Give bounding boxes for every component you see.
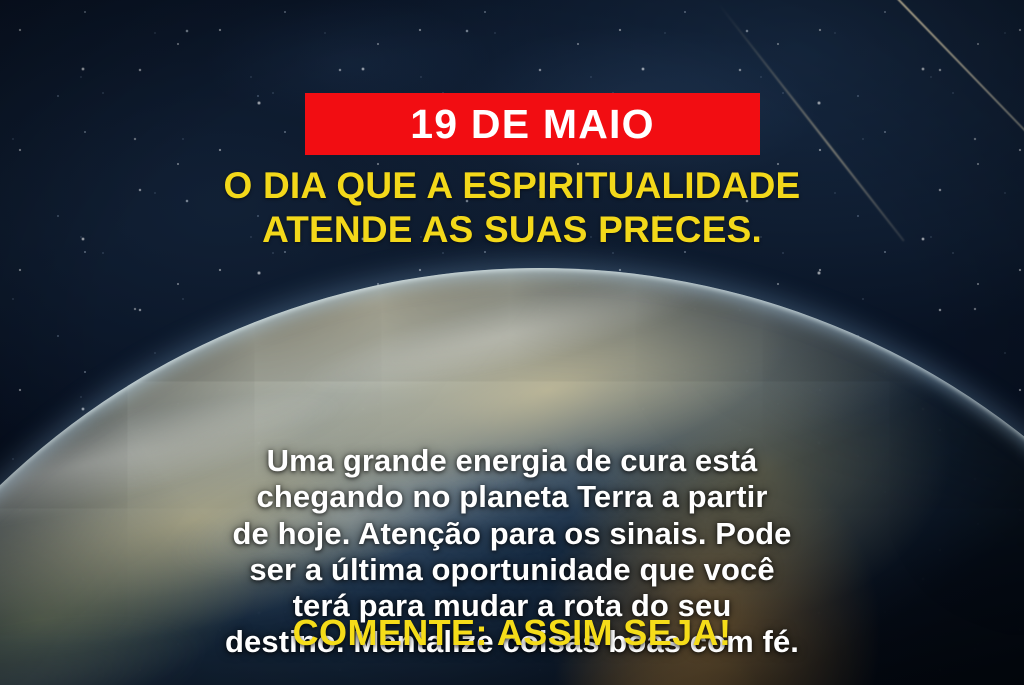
call-to-action-label: COMENTE: ASSIM SEJA! xyxy=(293,612,732,653)
body-line-2: chegando no planeta Terra a partir xyxy=(0,479,1024,515)
headline-line-2: ATENDE AS SUAS PRECES. xyxy=(0,208,1024,252)
call-to-action: COMENTE: ASSIM SEJA! xyxy=(0,612,1024,654)
poster-canvas: 19 DE MAIO O DIA QUE A ESPIRITUALIDADE A… xyxy=(0,0,1024,685)
poster-content: 19 DE MAIO O DIA QUE A ESPIRITUALIDADE A… xyxy=(0,0,1024,685)
headline: O DIA QUE A ESPIRITUALIDADE ATENDE AS SU… xyxy=(0,164,1024,251)
headline-line-1: O DIA QUE A ESPIRITUALIDADE xyxy=(224,165,801,206)
body-line-3: de hoje. Atenção para os sinais. Pode xyxy=(0,516,1024,552)
body-line-4: ser a última oportunidade que você xyxy=(0,552,1024,588)
date-banner-label: 19 DE MAIO xyxy=(410,104,654,145)
date-banner: 19 DE MAIO xyxy=(305,93,760,155)
body-line-1: Uma grande energia de cura está xyxy=(0,443,1024,479)
